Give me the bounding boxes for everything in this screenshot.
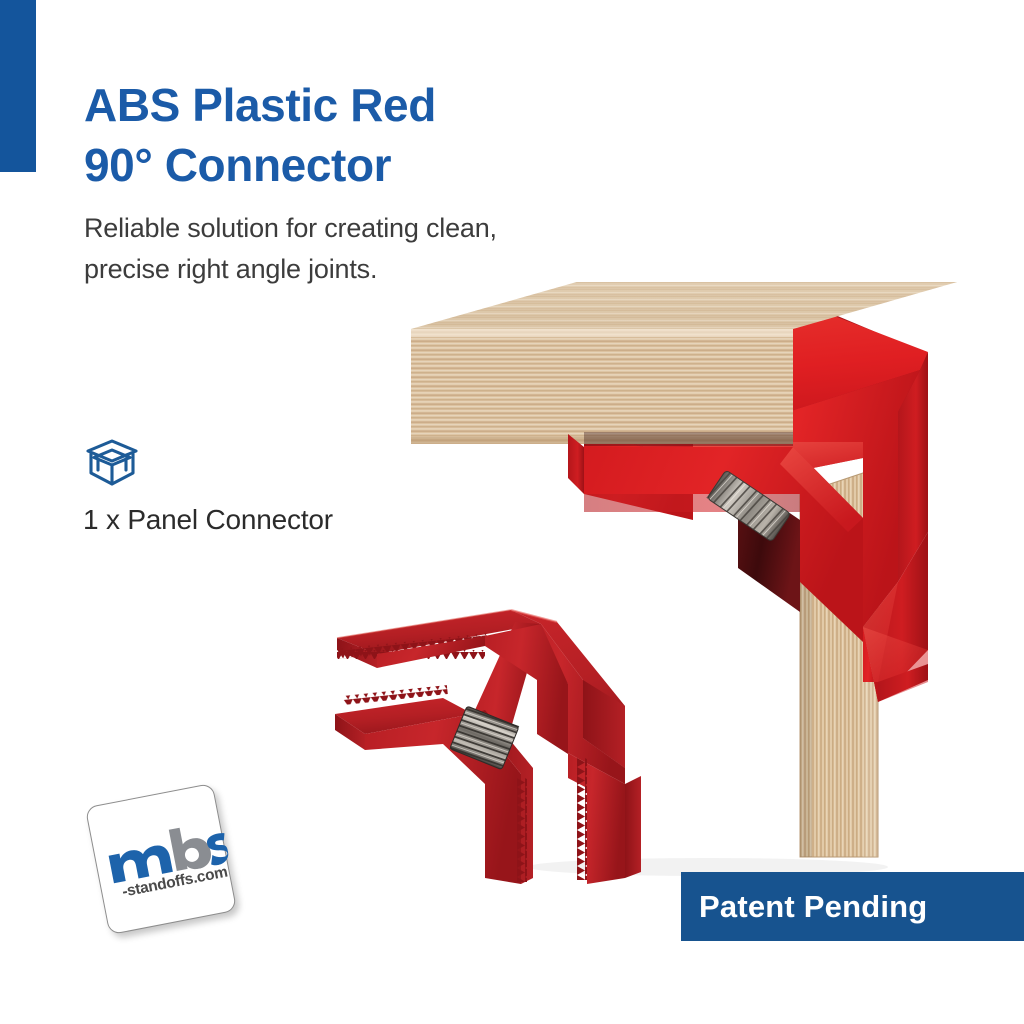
mbs-logo: -standoffs.com [82,786,250,934]
patent-pending-banner: Patent Pending [681,872,1024,941]
logo-inner: -standoffs.com [70,770,263,947]
title-line-1: ABS Plastic Red [84,79,436,131]
title-line-2: 90° Connector [84,136,644,196]
left-accent-bar [0,0,36,172]
open-box-icon [84,438,140,488]
page-subtitle: Reliable solution for creating clean, pr… [84,208,644,290]
page-title: ABS Plastic Red 90° Connector [84,76,644,196]
patent-pending-label: Patent Pending [699,889,927,925]
subtitle-line-1: Reliable solution for creating clean, [84,213,497,243]
connector-detail [325,588,655,898]
infographic-canvas: ABS Plastic Red 90° Connector Reliable s… [0,0,1024,1024]
